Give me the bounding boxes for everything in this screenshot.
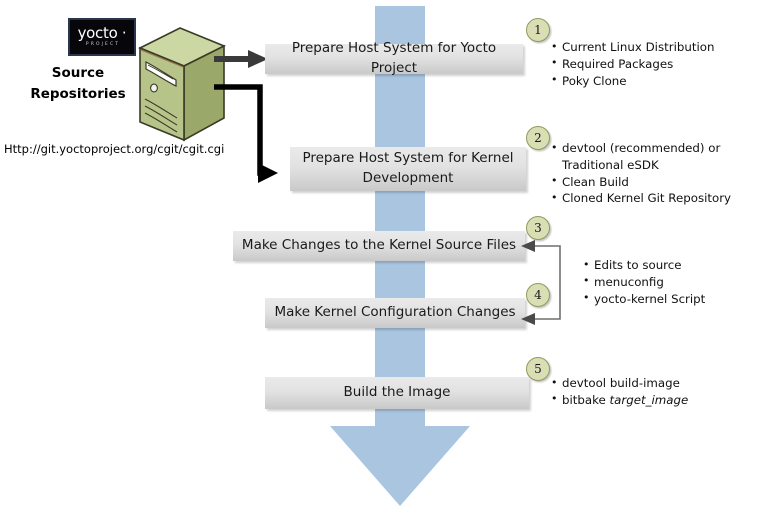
notes-list-steps-3-and-4: Edits to source menuconfig yocto-kernel … — [583, 257, 733, 307]
process-box-step-1[interactable]: Prepare Host System for Yocto Project — [265, 44, 523, 74]
process-box-step-5[interactable]: Build the Image — [265, 377, 529, 409]
note-item: devtool build-image — [551, 375, 741, 392]
notes-list-step-1: Current Linux Distribution Required Pack… — [551, 39, 751, 89]
diagram-canvas: yocto · PROJECT Source Repositories Http… — [0, 0, 769, 517]
note-item: Edits to source — [583, 257, 733, 274]
note-item: devtool (recommended) or Traditional eSD… — [551, 140, 729, 174]
step-badge-4: 4 — [526, 283, 550, 307]
note-item: Current Linux Distribution — [551, 39, 751, 56]
note-item-prefix: bitbake — [562, 393, 610, 407]
note-item: Clean Build — [551, 174, 729, 191]
notes-list-step-5: devtool build-image bitbake target_image — [551, 375, 741, 409]
note-item: bitbake target_image — [551, 392, 741, 409]
step-badge-3: 3 — [526, 216, 550, 240]
step-badge-1: 1 — [526, 18, 550, 42]
process-box-step-2[interactable]: Prepare Host System for Kernel Developme… — [290, 147, 526, 191]
note-item: Poky Clone — [551, 73, 751, 90]
process-box-step-3[interactable]: Make Changes to the Kernel Source Files — [233, 231, 525, 261]
note-item-italic: target_image — [610, 393, 689, 407]
notes-list-step-2: devtool (recommended) or Traditional eSD… — [551, 140, 729, 207]
note-item: menuconfig — [583, 274, 733, 291]
process-box-step-4[interactable]: Make Kernel Configuration Changes — [265, 298, 525, 328]
note-item: Required Packages — [551, 56, 751, 73]
note-item: yocto-kernel Script — [583, 291, 733, 308]
note-item: Cloned Kernel Git Repository — [551, 190, 729, 207]
step-badge-2: 2 — [526, 126, 550, 150]
step-badge-5: 5 — [526, 357, 550, 381]
